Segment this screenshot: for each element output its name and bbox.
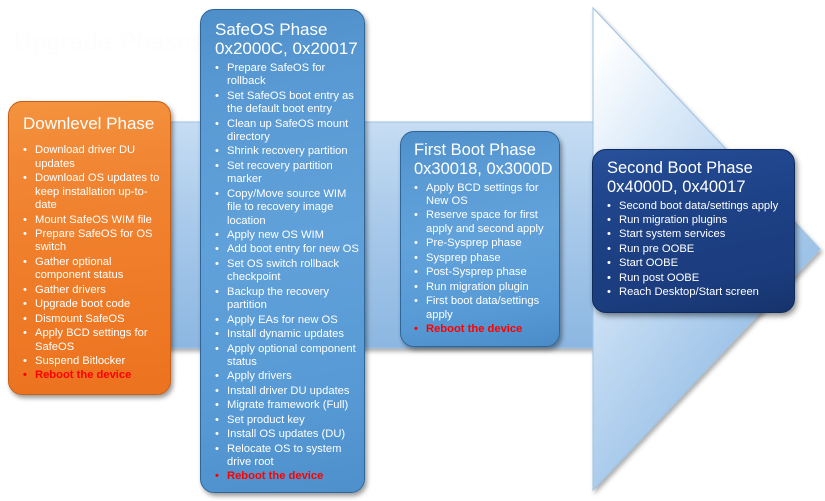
bullet-icon: • — [23, 172, 27, 185]
diagram-canvas: Upgrade Phases — [0, 0, 825, 501]
list-item-label: Second boot data/settings apply — [619, 200, 793, 213]
list-item: •Add boot entry for new OS — [215, 243, 360, 256]
bullet-icon: • — [215, 229, 219, 242]
list-item: •Start system services — [607, 228, 793, 241]
list-item: •First boot data/settings apply — [414, 295, 556, 322]
bullet-icon: • — [215, 258, 219, 271]
phase-codes-text: 0x2000C, 0x20017 — [215, 39, 358, 58]
list-item: •Reach Desktop/Start screen — [607, 286, 793, 299]
list-item: •Download OS updates to keep installatio… — [23, 172, 165, 212]
bullet-icon: • — [23, 214, 27, 227]
bullet-icon: • — [23, 284, 27, 297]
phase-item-list-downlevel: •Download driver DU updates •Download OS… — [23, 144, 165, 382]
list-item-label: Apply BCD settings for SafeOS — [35, 327, 165, 354]
bullet-icon: • — [215, 399, 219, 412]
phase-title-second-boot: Second Boot Phase0x4000D, 0x40017 — [607, 159, 794, 197]
phase-codes-text: 0x30018, 0x3000D — [414, 160, 553, 178]
list-item: •Reserve space for first apply and secon… — [414, 209, 556, 236]
list-item-label: Download driver DU updates — [35, 144, 165, 171]
list-item-label: Reboot the device — [35, 369, 165, 382]
bullet-icon: • — [414, 209, 418, 222]
bullet-icon: • — [414, 281, 418, 294]
phase-title-safeos: SafeOS Phase0x2000C, 0x20017 — [215, 20, 364, 59]
bullet-icon: • — [215, 328, 219, 341]
phase-box-safeos[interactable]: SafeOS Phase0x2000C, 0x20017 •Prepare Sa… — [200, 9, 365, 493]
bullet-icon: • — [215, 343, 219, 356]
list-item: •Gather optional component status — [23, 256, 165, 283]
bullet-icon: • — [215, 243, 219, 256]
list-item-label: Apply drivers — [227, 370, 360, 383]
bullet-icon: • — [215, 118, 219, 131]
list-item: •Apply drivers — [215, 370, 360, 383]
list-item-label: Upgrade boot code — [35, 298, 165, 311]
bullet-icon: • — [23, 144, 27, 157]
list-item: •Run migration plugin — [414, 281, 556, 294]
list-item-label: Reach Desktop/Start screen — [619, 286, 793, 299]
list-item: •Apply optional component status — [215, 343, 360, 370]
list-item: •Mount SafeOS WIM file — [23, 214, 165, 227]
list-item-label: Apply new OS WIM — [227, 229, 360, 242]
list-item: •Post-Sysprep phase — [414, 266, 556, 279]
bullet-icon: • — [215, 62, 219, 75]
list-item-label: Clean up SafeOS mount directory — [227, 118, 360, 145]
bullet-icon: • — [23, 327, 27, 340]
phase-title-downlevel: Downlevel Phase — [23, 114, 170, 133]
phase-codes-text: 0x4000D, 0x40017 — [607, 178, 746, 196]
bullet-icon: • — [414, 323, 418, 336]
bullet-icon: • — [23, 313, 27, 326]
list-item: •Set OS switch rollback checkpoint — [215, 258, 360, 285]
list-item-label: Gather drivers — [35, 284, 165, 297]
list-item-label: Prepare SafeOS for OS switch — [35, 228, 165, 255]
list-item: •Clean up SafeOS mount directory — [215, 118, 360, 145]
list-item-label: Set SafeOS boot entry as the default boo… — [227, 90, 360, 117]
list-item-label: Shrink recovery partition — [227, 145, 360, 158]
list-item-label: Run migration plugins — [619, 214, 793, 227]
list-item: •Run post OOBE — [607, 272, 793, 285]
list-item-label: Install driver DU updates — [227, 385, 360, 398]
phase-title-text: First Boot Phase — [414, 141, 536, 159]
bullet-icon: • — [607, 214, 611, 227]
phase-title-text: Second Boot Phase — [607, 159, 753, 177]
bullet-icon: • — [215, 414, 219, 427]
list-item: •Suspend Bitlocker — [23, 355, 165, 368]
list-item: •Gather drivers — [23, 284, 165, 297]
bullet-icon: • — [607, 200, 611, 213]
bullet-icon: • — [607, 286, 611, 299]
list-item: •Backup the recovery partition — [215, 286, 360, 313]
bullet-icon: • — [607, 243, 611, 256]
bullet-icon: • — [215, 428, 219, 441]
list-item-label: Set OS switch rollback checkpoint — [227, 258, 360, 285]
list-item: •Start OOBE — [607, 257, 793, 270]
bullet-icon: • — [215, 145, 219, 158]
list-item-label: Reboot the device — [426, 323, 556, 336]
list-item-label: Mount SafeOS WIM file — [35, 214, 165, 227]
bullet-icon: • — [607, 272, 611, 285]
list-item: •Set SafeOS boot entry as the default bo… — [215, 90, 360, 117]
bullet-icon: • — [23, 355, 27, 368]
list-item-label: Add boot entry for new OS — [227, 243, 360, 256]
list-item: •Set product key — [215, 414, 360, 427]
list-item: •Download driver DU updates — [23, 144, 165, 171]
bullet-icon: • — [215, 90, 219, 103]
bullet-icon: • — [215, 160, 219, 173]
bullet-icon: • — [215, 370, 219, 383]
list-item-label: Migrate framework (Full) — [227, 399, 360, 412]
list-item: •Shrink recovery partition — [215, 145, 360, 158]
list-item-label: Start system services — [619, 228, 793, 241]
list-item-label: Relocate OS to system drive root — [227, 443, 360, 470]
bullet-icon: • — [23, 256, 27, 269]
list-item-label: Post-Sysprep phase — [426, 266, 556, 279]
list-item-label: Apply optional component status — [227, 343, 360, 370]
phase-box-second-boot[interactable]: Second Boot Phase0x4000D, 0x40017 •Secon… — [592, 149, 795, 313]
phase-box-first-boot[interactable]: First Boot Phase0x30018, 0x3000D •Apply … — [400, 131, 560, 347]
bullet-icon: • — [414, 266, 418, 279]
phase-title-first-boot: First Boot Phase0x30018, 0x3000D — [414, 141, 559, 179]
bullet-icon: • — [215, 286, 219, 299]
list-item: •Pre-Sysprep phase — [414, 237, 556, 250]
list-item: •Sysprep phase — [414, 252, 556, 265]
list-item: •Second boot data/settings apply — [607, 200, 793, 213]
list-item: •Prepare SafeOS for rollback — [215, 62, 360, 89]
list-item-label: First boot data/settings apply — [426, 295, 556, 322]
list-item-label: Start OOBE — [619, 257, 793, 270]
list-item: •Apply new OS WIM — [215, 229, 360, 242]
list-item-label: Pre-Sysprep phase — [426, 237, 556, 250]
list-item-label: Prepare SafeOS for rollback — [227, 62, 360, 89]
list-item: •Run pre OOBE — [607, 243, 793, 256]
list-item: •Dismount SafeOS — [23, 313, 165, 326]
list-item-label: Gather optional component status — [35, 256, 165, 283]
bullet-icon: • — [23, 228, 27, 241]
list-item-label: Apply BCD settings for New OS — [426, 182, 556, 209]
list-item-label: Backup the recovery partition — [227, 286, 360, 313]
list-item-label: Run post OOBE — [619, 272, 793, 285]
list-item: •Apply BCD settings for SafeOS — [23, 327, 165, 354]
list-item-label: Set product key — [227, 414, 360, 427]
phase-item-list-second-boot: •Second boot data/settings apply •Run mi… — [607, 200, 793, 300]
list-item: •Apply EAs for new OS — [215, 314, 360, 327]
bullet-icon: • — [215, 470, 219, 483]
list-item: •Run migration plugins — [607, 214, 793, 227]
bullet-icon: • — [414, 295, 418, 308]
list-item: •Install OS updates (DU) — [215, 428, 360, 441]
list-item-label: Run migration plugin — [426, 281, 556, 294]
bullet-icon: • — [607, 257, 611, 270]
bullet-icon: • — [414, 237, 418, 250]
list-item: •Relocate OS to system drive root — [215, 443, 360, 470]
list-item: •Set recovery partition marker — [215, 160, 360, 187]
list-item: •Apply BCD settings for New OS — [414, 182, 556, 209]
phase-item-list-safeos: •Prepare SafeOS for rollback •Set SafeOS… — [215, 62, 360, 484]
list-item-label: Install OS updates (DU) — [227, 428, 360, 441]
bullet-icon: • — [23, 369, 27, 382]
list-item-reboot: •Reboot the device — [215, 470, 360, 483]
list-item: •Install driver DU updates — [215, 385, 360, 398]
list-item: •Install dynamic updates — [215, 328, 360, 341]
list-item-label: Run pre OOBE — [619, 243, 793, 256]
bullet-icon: • — [23, 298, 27, 311]
list-item-label: Apply EAs for new OS — [227, 314, 360, 327]
list-item-label: Dismount SafeOS — [35, 313, 165, 326]
list-item: •Prepare SafeOS for OS switch — [23, 228, 165, 255]
list-item-reboot: •Reboot the device — [414, 323, 556, 336]
bullet-icon: • — [215, 314, 219, 327]
list-item-label: Download OS updates to keep installation… — [35, 172, 165, 212]
list-item-label: Sysprep phase — [426, 252, 556, 265]
list-item-label: Reboot the device — [227, 470, 360, 483]
bullet-icon: • — [414, 182, 418, 195]
bullet-icon: • — [215, 443, 219, 456]
list-item-label: Reserve space for first apply and second… — [426, 209, 556, 236]
phase-box-downlevel[interactable]: Downlevel Phase •Download driver DU upda… — [8, 101, 171, 395]
list-item: •Migrate framework (Full) — [215, 399, 360, 412]
list-item-label: Copy/Move source WIM file to recovery im… — [227, 188, 360, 228]
list-item-reboot: •Reboot the device — [23, 369, 165, 382]
phase-item-list-first-boot: •Apply BCD settings for New OS •Reserve … — [414, 182, 556, 337]
list-item: •Upgrade boot code — [23, 298, 165, 311]
list-item-label: Install dynamic updates — [227, 328, 360, 341]
phase-title-text: SafeOS Phase — [215, 20, 327, 39]
list-item-label: Suspend Bitlocker — [35, 355, 165, 368]
bullet-icon: • — [414, 252, 418, 265]
bullet-icon: • — [215, 188, 219, 201]
bullet-icon: • — [215, 385, 219, 398]
list-item: •Copy/Move source WIM file to recovery i… — [215, 188, 360, 228]
list-item-label: Set recovery partition marker — [227, 160, 360, 187]
bullet-icon: • — [607, 228, 611, 241]
